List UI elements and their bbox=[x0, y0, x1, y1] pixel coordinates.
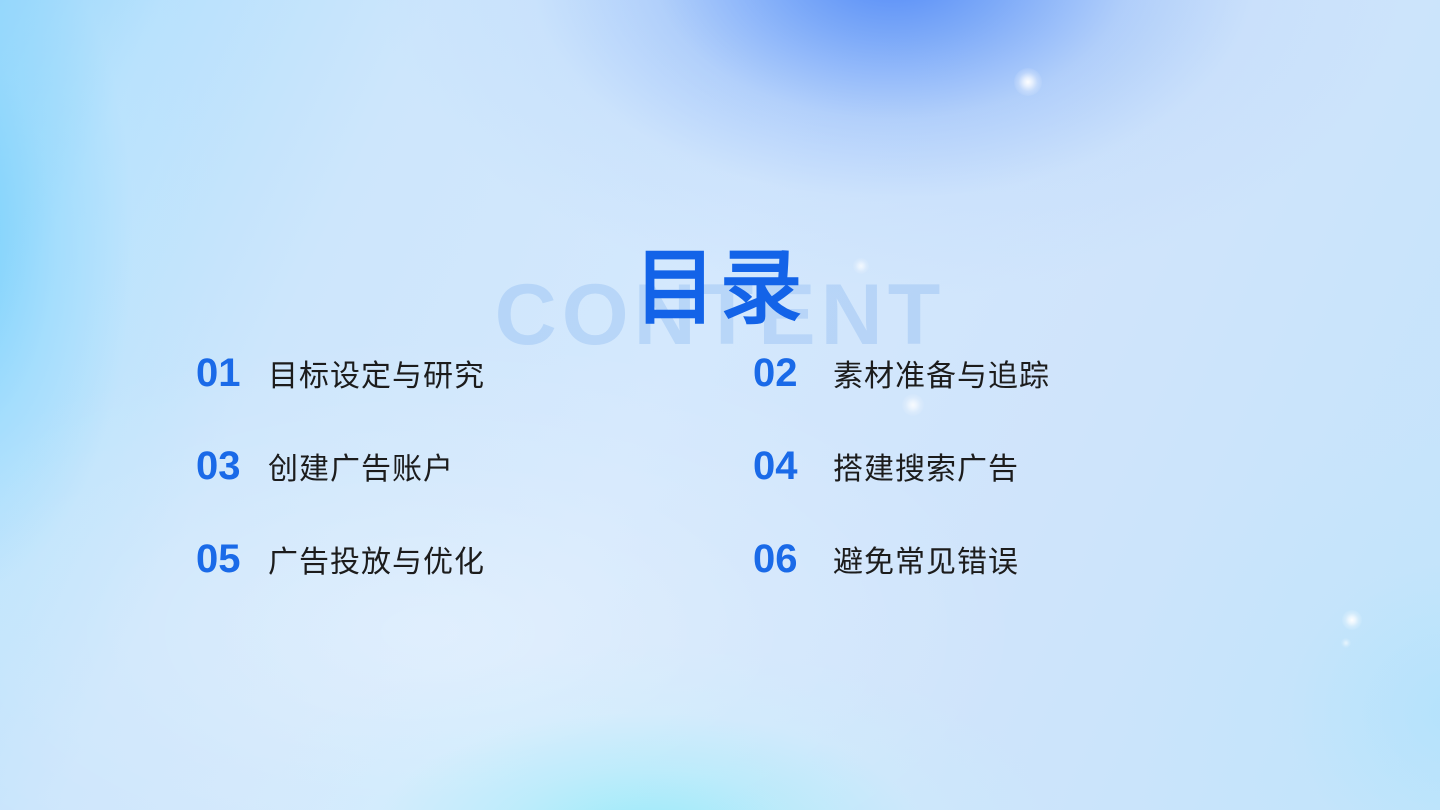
toc-item-04[interactable]: 04 搭建搜索广告 bbox=[753, 446, 1256, 486]
toc-number: 05 bbox=[196, 539, 268, 579]
toc-number: 03 bbox=[196, 446, 268, 486]
toc-label: 搭建搜索广告 bbox=[833, 455, 1019, 485]
toc-number: 04 bbox=[753, 446, 833, 486]
page-title: 目录 bbox=[0, 244, 1440, 334]
toc-number: 06 bbox=[753, 539, 833, 579]
toc-label: 创建广告账户 bbox=[268, 455, 454, 485]
toc-label: 素材准备与追踪 bbox=[833, 362, 1050, 392]
toc-item-03[interactable]: 03 创建广告账户 bbox=[196, 446, 753, 486]
toc-number: 02 bbox=[753, 353, 833, 393]
sparkle-icon bbox=[1342, 610, 1362, 630]
slide-root: CONTENT 目录 01 目标设定与研究 02 素材准备与追踪 03 创建广告… bbox=[0, 0, 1440, 810]
toc-label: 避免常见错误 bbox=[833, 548, 1019, 578]
toc-number: 01 bbox=[196, 353, 268, 393]
sparkle-icon bbox=[1341, 638, 1351, 648]
toc-label: 目标设定与研究 bbox=[268, 362, 485, 392]
toc-item-02[interactable]: 02 素材准备与追踪 bbox=[753, 353, 1256, 393]
toc-item-01[interactable]: 01 目标设定与研究 bbox=[196, 353, 753, 393]
heading-block: CONTENT 目录 bbox=[0, 120, 1440, 270]
toc-item-05[interactable]: 05 广告投放与优化 bbox=[196, 539, 753, 579]
sparkle-icon bbox=[1014, 68, 1042, 96]
toc-label: 广告投放与优化 bbox=[268, 548, 485, 578]
toc-list: 01 目标设定与研究 02 素材准备与追踪 03 创建广告账户 04 搭建搜索广… bbox=[196, 326, 1256, 605]
toc-item-06[interactable]: 06 避免常见错误 bbox=[753, 539, 1256, 579]
